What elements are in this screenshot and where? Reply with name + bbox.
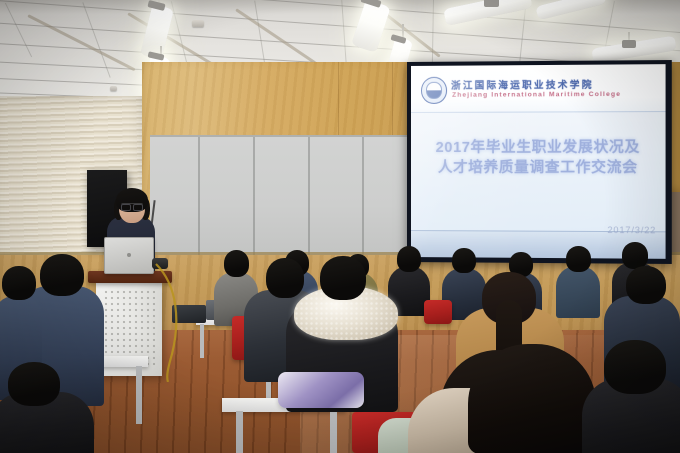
chair: [424, 300, 452, 324]
audience-head: [622, 242, 648, 269]
college-name-chinese: 浙江国际海运职业技术学院: [451, 77, 594, 92]
laptop: [104, 237, 154, 274]
audience-head: [8, 362, 60, 406]
audience-head: [224, 250, 249, 277]
desk-leg: [136, 366, 142, 424]
smoke-detector-icon: [110, 86, 117, 91]
projection-screen-frame: 浙江国际海运职业技术学院 Zhejiang International Mari…: [407, 60, 672, 264]
audience-head: [320, 256, 366, 300]
slide-header-band: 浙江国际海运职业技术学院 Zhejiang International Mari…: [411, 64, 666, 113]
audience-head: [397, 246, 421, 272]
slide-title-line-1: 2017年毕业生职业发展状况及: [411, 138, 666, 158]
audience-head: [626, 266, 666, 304]
gray-wall-panels: [150, 135, 418, 261]
desk-leg: [236, 411, 243, 453]
audience-head: [566, 246, 591, 272]
long-hair: [468, 344, 596, 453]
college-name-english: Zhejiang International Maritime College: [452, 91, 621, 99]
audience-person: [556, 266, 600, 318]
slide-title: 2017年毕业生职业发展状况及 人才培养质量调查工作交流会: [411, 138, 666, 179]
college-shield-emblem-icon: [421, 77, 447, 104]
audience-head: [604, 340, 666, 394]
audience-head: [452, 248, 476, 273]
folded-clothing: [278, 372, 364, 408]
audience-head: [2, 266, 36, 300]
audience-head: [40, 254, 84, 296]
desk-leg: [330, 411, 337, 453]
slide-title-line-2: 人才培养质量调查工作交流会: [411, 158, 666, 178]
slide-date: 2017/3/22: [607, 225, 656, 235]
eyeglasses-icon: [121, 203, 143, 210]
audience-head: [266, 258, 304, 298]
smoke-detector-icon: [192, 20, 204, 27]
lecture-hall-photo: 浙江国际海运职业技术学院 Zhejiang International Mari…: [0, 0, 680, 453]
projection-screen: 浙江国际海运职业技术学院 Zhejiang International Mari…: [411, 64, 666, 259]
